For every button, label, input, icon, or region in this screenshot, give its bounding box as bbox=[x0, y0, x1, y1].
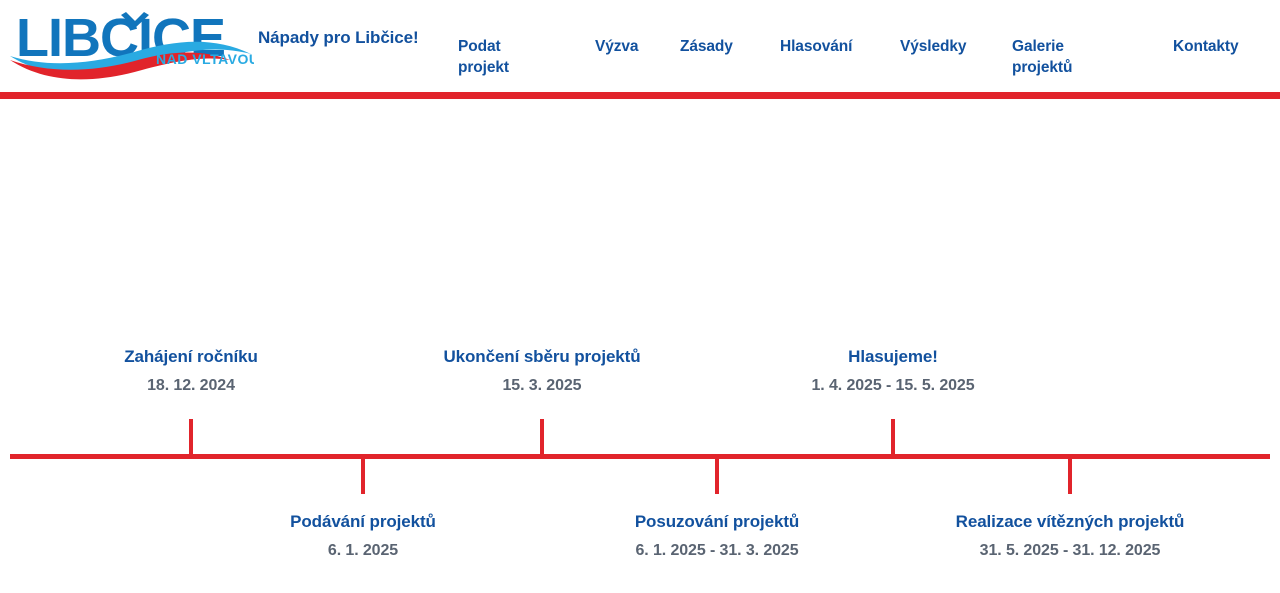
milestone-tick bbox=[189, 419, 193, 459]
milestone-text: Hlasujeme! 1. 4. 2025 - 15. 5. 2025 bbox=[683, 345, 1103, 397]
milestone-tick bbox=[540, 419, 544, 459]
milestone-date: 31. 5. 2025 - 31. 12. 2025 bbox=[860, 539, 1280, 562]
svg-text:NAD VLTAVOU: NAD VLTAVOU bbox=[156, 51, 254, 67]
milestone-text: Realizace vítězných projektů 31. 5. 2025… bbox=[860, 510, 1280, 562]
brand-tagline: Nápady pro Libčice! bbox=[258, 27, 438, 48]
milestone-date: 1. 4. 2025 - 15. 5. 2025 bbox=[683, 374, 1103, 397]
nav-item-vyzva[interactable]: Výzva bbox=[595, 36, 638, 57]
milestone-title: Hlasujeme! bbox=[683, 345, 1103, 368]
nav-item-kontakty[interactable]: Kontakty bbox=[1173, 36, 1239, 57]
nav-item-hlasovani[interactable]: Hlasování bbox=[780, 36, 852, 57]
main-navigation: Podat projekt Výzva Zásady Hlasování Výs… bbox=[440, 0, 1280, 92]
milestone-tick bbox=[1068, 454, 1072, 494]
milestone-tick bbox=[361, 454, 365, 494]
project-timeline: Zahájení ročníku 18. 12. 2024 Podávání p… bbox=[0, 99, 1280, 593]
nav-item-podat-projekt[interactable]: Podat projekt bbox=[458, 36, 509, 78]
nav-item-vysledky[interactable]: Výsledky bbox=[900, 36, 966, 57]
timeline-axis-line bbox=[10, 454, 1270, 459]
milestone-title: Realizace vítězných projektů bbox=[860, 510, 1280, 533]
libcice-logo-icon[interactable]: LIBCICE NAD VLTAVOU bbox=[8, 6, 254, 86]
nav-item-galerie-projektu[interactable]: Galerie projektů bbox=[1012, 36, 1072, 78]
header-divider bbox=[0, 92, 1280, 99]
brand-block[interactable]: LIBCICE NAD VLTAVOU Nápady pro Libčice! bbox=[8, 6, 438, 88]
nav-item-zasady[interactable]: Zásady bbox=[680, 36, 733, 57]
milestone-tick bbox=[891, 419, 895, 459]
milestone-tick bbox=[715, 454, 719, 494]
site-header: LIBCICE NAD VLTAVOU Nápady pro Libčice! … bbox=[0, 0, 1280, 92]
